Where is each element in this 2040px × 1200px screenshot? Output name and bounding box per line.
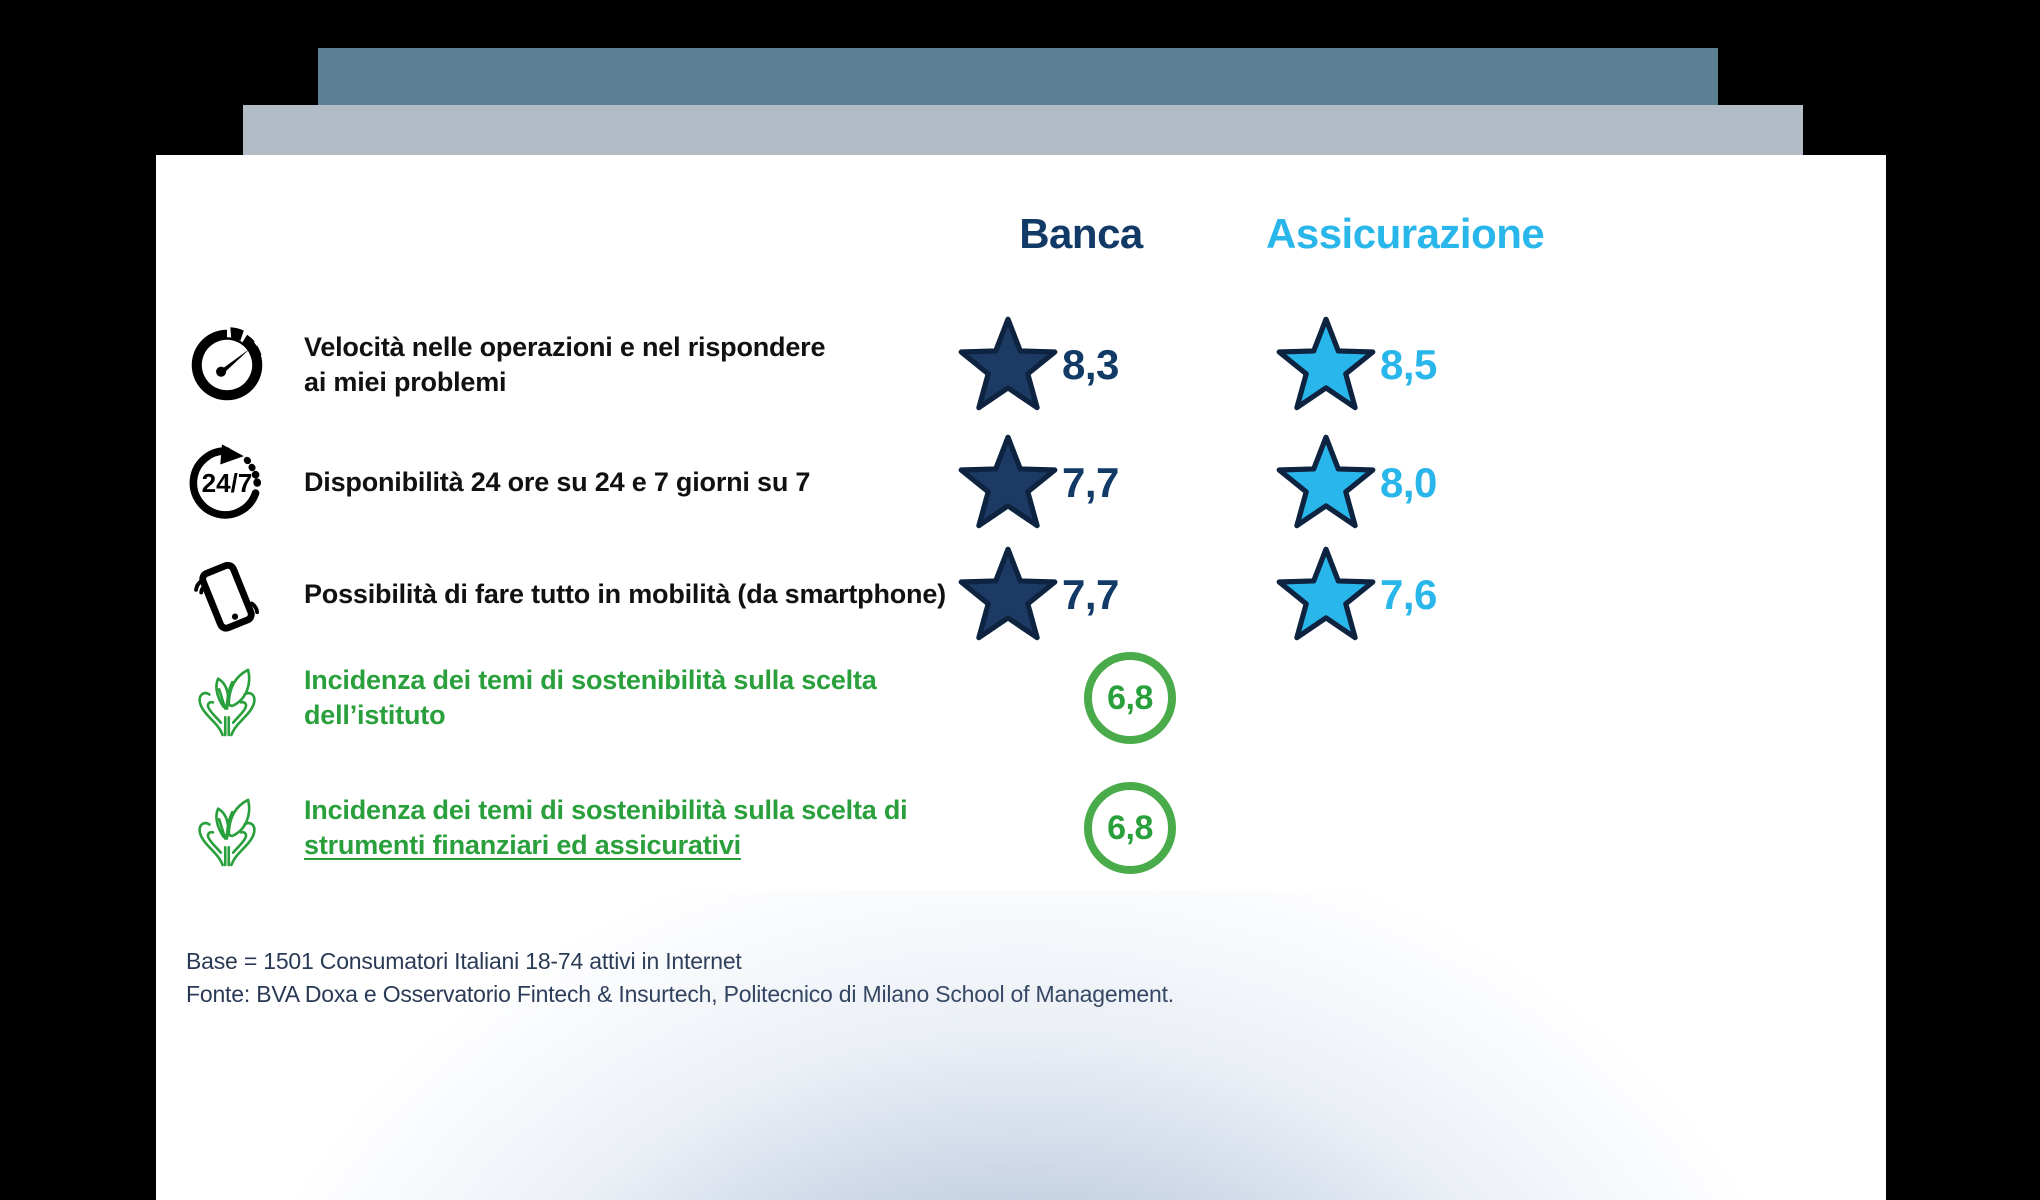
column-header-banca: Banca bbox=[956, 210, 1206, 258]
row-label-line2: ai miei problemi bbox=[304, 367, 506, 397]
score-assicurazione: 8,5 bbox=[1274, 313, 1437, 417]
score-value-banca: 7,7 bbox=[1062, 459, 1119, 507]
score-value-assicurazione: 7,6 bbox=[1380, 571, 1437, 619]
table-row: Incidenza dei temi di sostenibilità sull… bbox=[156, 753, 1886, 903]
slide-root: Banca Assicurazione Veloc bbox=[0, 0, 2040, 1200]
footnote-base: Base = 1501 Consumatori Italiani 18-74 a… bbox=[186, 945, 1586, 978]
content-card: Banca Assicurazione Veloc bbox=[156, 155, 1886, 1200]
card-bottom-glow bbox=[271, 890, 1771, 1200]
speedometer-icon bbox=[172, 310, 282, 420]
hands-leaves-icon bbox=[172, 773, 282, 883]
row-label-line1: Incidenza dei temi di sostenibilità sull… bbox=[304, 795, 907, 825]
column-header-assicurazione: Assicurazione bbox=[1266, 210, 1716, 258]
circle-value: 6,8 bbox=[1107, 809, 1153, 848]
score-value-banca: 8,3 bbox=[1062, 341, 1119, 389]
circle-score-badge: 6,8 bbox=[1084, 652, 1176, 744]
twenty-four-seven-icon: 24/7 bbox=[172, 428, 282, 538]
score-value-assicurazione: 8,5 bbox=[1380, 341, 1437, 389]
star-icon-assicurazione bbox=[1274, 313, 1378, 417]
row-label-line2: dell’istituto bbox=[304, 700, 445, 730]
table-row: Velocità nelle operazioni e nel risponde… bbox=[156, 305, 1886, 425]
row-label-line1: Disponibilità 24 ore su 24 e 7 giorni su… bbox=[304, 467, 810, 497]
row-label: Disponibilità 24 ore su 24 e 7 giorni su… bbox=[304, 465, 964, 500]
circle-value: 6,8 bbox=[1107, 679, 1153, 718]
row-label-line2: strumenti finanziari ed assicurativi bbox=[304, 830, 741, 860]
star-icon-banca bbox=[956, 313, 1060, 417]
table-row: Incidenza dei temi di sostenibilità sull… bbox=[156, 623, 1886, 773]
score-banca: 7,7 bbox=[956, 431, 1119, 535]
row-label: Incidenza dei temi di sostenibilità sull… bbox=[304, 793, 964, 863]
svg-text:24/7: 24/7 bbox=[202, 468, 253, 498]
table-row: 24/7 Disponibilità 24 ore su 24 e 7 gior… bbox=[156, 423, 1886, 543]
circle-score-badge: 6,8 bbox=[1084, 782, 1176, 874]
score-value-banca: 7,7 bbox=[1062, 571, 1119, 619]
row-label: Velocità nelle operazioni e nel risponde… bbox=[304, 330, 964, 400]
footnote: Base = 1501 Consumatori Italiani 18-74 a… bbox=[186, 945, 1586, 1010]
green-circle: 6,8 bbox=[1084, 652, 1176, 744]
row-label: Incidenza dei temi di sostenibilità sull… bbox=[304, 663, 964, 733]
row-label-line1: Velocità nelle operazioni e nel risponde… bbox=[304, 332, 825, 362]
green-circle: 6,8 bbox=[1084, 782, 1176, 874]
score-assicurazione: 8,0 bbox=[1274, 431, 1437, 535]
star-icon-assicurazione bbox=[1274, 431, 1378, 535]
row-label: Possibilità di fare tutto in mobilità (d… bbox=[304, 577, 964, 612]
score-value-assicurazione: 8,0 bbox=[1380, 459, 1437, 507]
score-banca: 8,3 bbox=[956, 313, 1119, 417]
row-label-line1: Possibilità di fare tutto in mobilità (d… bbox=[304, 579, 946, 609]
row-label-line1: Incidenza dei temi di sostenibilità sull… bbox=[304, 665, 877, 695]
hands-leaves-icon bbox=[172, 643, 282, 753]
footnote-source: Fonte: BVA Doxa e Osservatorio Fintech &… bbox=[186, 978, 1586, 1011]
star-icon-banca bbox=[956, 431, 1060, 535]
